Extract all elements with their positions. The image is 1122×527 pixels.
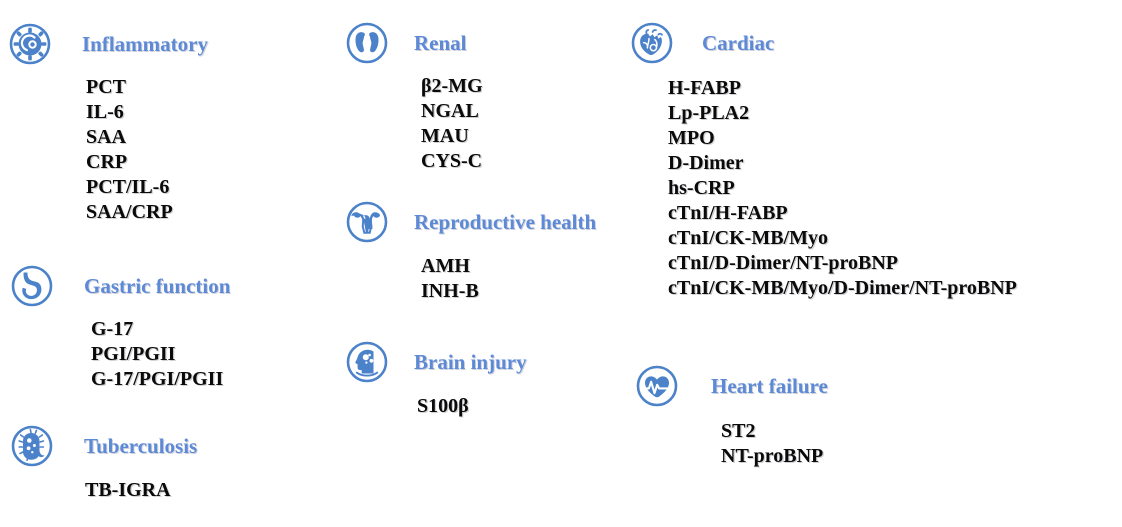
group-heart-failure: Heart failure ST2 NT-proBNP — [635, 364, 828, 469]
group-gastric-function: Gastric function G-17 PGI/PGII G-17/PGI/… — [10, 264, 230, 392]
group-header: Inflammatory — [8, 22, 208, 66]
list-item: PCT/IL-6 — [86, 175, 208, 200]
list-item: cTnI/CK-MB/Myo — [668, 226, 1017, 251]
list-item: cTnI/D-Dimer/NT-proBNP — [668, 251, 1017, 276]
group-title: Gastric function — [84, 276, 230, 297]
list-item: ST2 — [721, 419, 828, 444]
bacteria-icon — [10, 424, 54, 468]
group-title: Tuberculosis — [84, 436, 197, 457]
list-item: Lp-PLA2 — [668, 101, 1017, 126]
list-item: SAA/CRP — [86, 200, 208, 225]
brain-head-icon — [345, 340, 389, 384]
list-item: CYS-C — [421, 149, 483, 174]
group-title: Heart failure — [711, 376, 828, 397]
group-header: Tuberculosis — [10, 424, 197, 468]
group-tuberculosis: Tuberculosis TB-IGRA — [10, 424, 197, 503]
group-title: Reproductive health — [414, 212, 596, 233]
group-header: Renal — [345, 21, 483, 65]
group-header: Gastric function — [10, 264, 230, 308]
list-item: G-17 — [91, 317, 230, 342]
biomarker-list: S100β — [417, 394, 527, 419]
list-item: PGI/PGII — [91, 342, 230, 367]
group-header: Heart failure — [635, 364, 828, 408]
group-reproductive-health: Reproductive health AMH INH-B — [345, 200, 596, 304]
list-item: TB-IGRA — [85, 478, 197, 503]
list-item: MPO — [668, 126, 1017, 151]
group-cardiac: Cardiac H-FABP Lp-PLA2 MPO D-Dimer hs-CR… — [630, 21, 1017, 301]
stomach-icon — [10, 264, 54, 308]
group-header: Brain injury — [345, 340, 527, 384]
biomarker-list: TB-IGRA — [85, 478, 197, 503]
biomarker-list: β2-MG NGAL MAU CYS-C — [421, 74, 483, 174]
biomarker-list: H-FABP Lp-PLA2 MPO D-Dimer hs-CRP cTnI/H… — [668, 76, 1017, 301]
list-item: AMH — [421, 254, 596, 279]
list-item: PCT — [86, 75, 208, 100]
list-item: NGAL — [421, 99, 483, 124]
group-title: Cardiac — [702, 33, 774, 54]
list-item: IL-6 — [86, 100, 208, 125]
group-title: Renal — [414, 33, 467, 54]
group-inflammatory: Inflammatory PCT IL-6 SAA CRP PCT/IL-6 S… — [8, 22, 208, 225]
group-header: Cardiac — [630, 21, 1017, 65]
heart-anatomy-icon — [630, 21, 674, 65]
group-title: Brain injury — [414, 352, 527, 373]
biomarker-list: PCT IL-6 SAA CRP PCT/IL-6 SAA/CRP — [86, 75, 208, 225]
biomarker-panel-board: Inflammatory PCT IL-6 SAA CRP PCT/IL-6 S… — [0, 0, 1122, 527]
biomarker-list: G-17 PGI/PGII G-17/PGI/PGII — [91, 317, 230, 392]
biomarker-list: AMH INH-B — [421, 254, 596, 304]
group-header: Reproductive health — [345, 200, 596, 244]
list-item: SAA — [86, 125, 208, 150]
list-item: S100β — [417, 394, 527, 419]
list-item: β2-MG — [421, 74, 483, 99]
list-item: hs-CRP — [668, 176, 1017, 201]
list-item: H-FABP — [668, 76, 1017, 101]
group-brain-injury: Brain injury S100β — [345, 340, 527, 419]
kidney-icon — [345, 21, 389, 65]
biomarker-list: ST2 NT-proBNP — [721, 419, 828, 469]
list-item: cTnI/H-FABP — [668, 201, 1017, 226]
list-item: D-Dimer — [668, 151, 1017, 176]
list-item: INH-B — [421, 279, 596, 304]
group-renal: Renal β2-MG NGAL MAU CYS-C — [345, 21, 483, 174]
uterus-icon — [345, 200, 389, 244]
list-item: G-17/PGI/PGII — [91, 367, 230, 392]
list-item: cTnI/CK-MB/Myo/D-Dimer/NT-proBNP — [668, 276, 1017, 301]
group-title: Inflammatory — [82, 34, 208, 55]
heart-pulse-icon — [635, 364, 679, 408]
list-item: NT-proBNP — [721, 444, 828, 469]
list-item: CRP — [86, 150, 208, 175]
virus-icon — [8, 22, 52, 66]
list-item: MAU — [421, 124, 483, 149]
